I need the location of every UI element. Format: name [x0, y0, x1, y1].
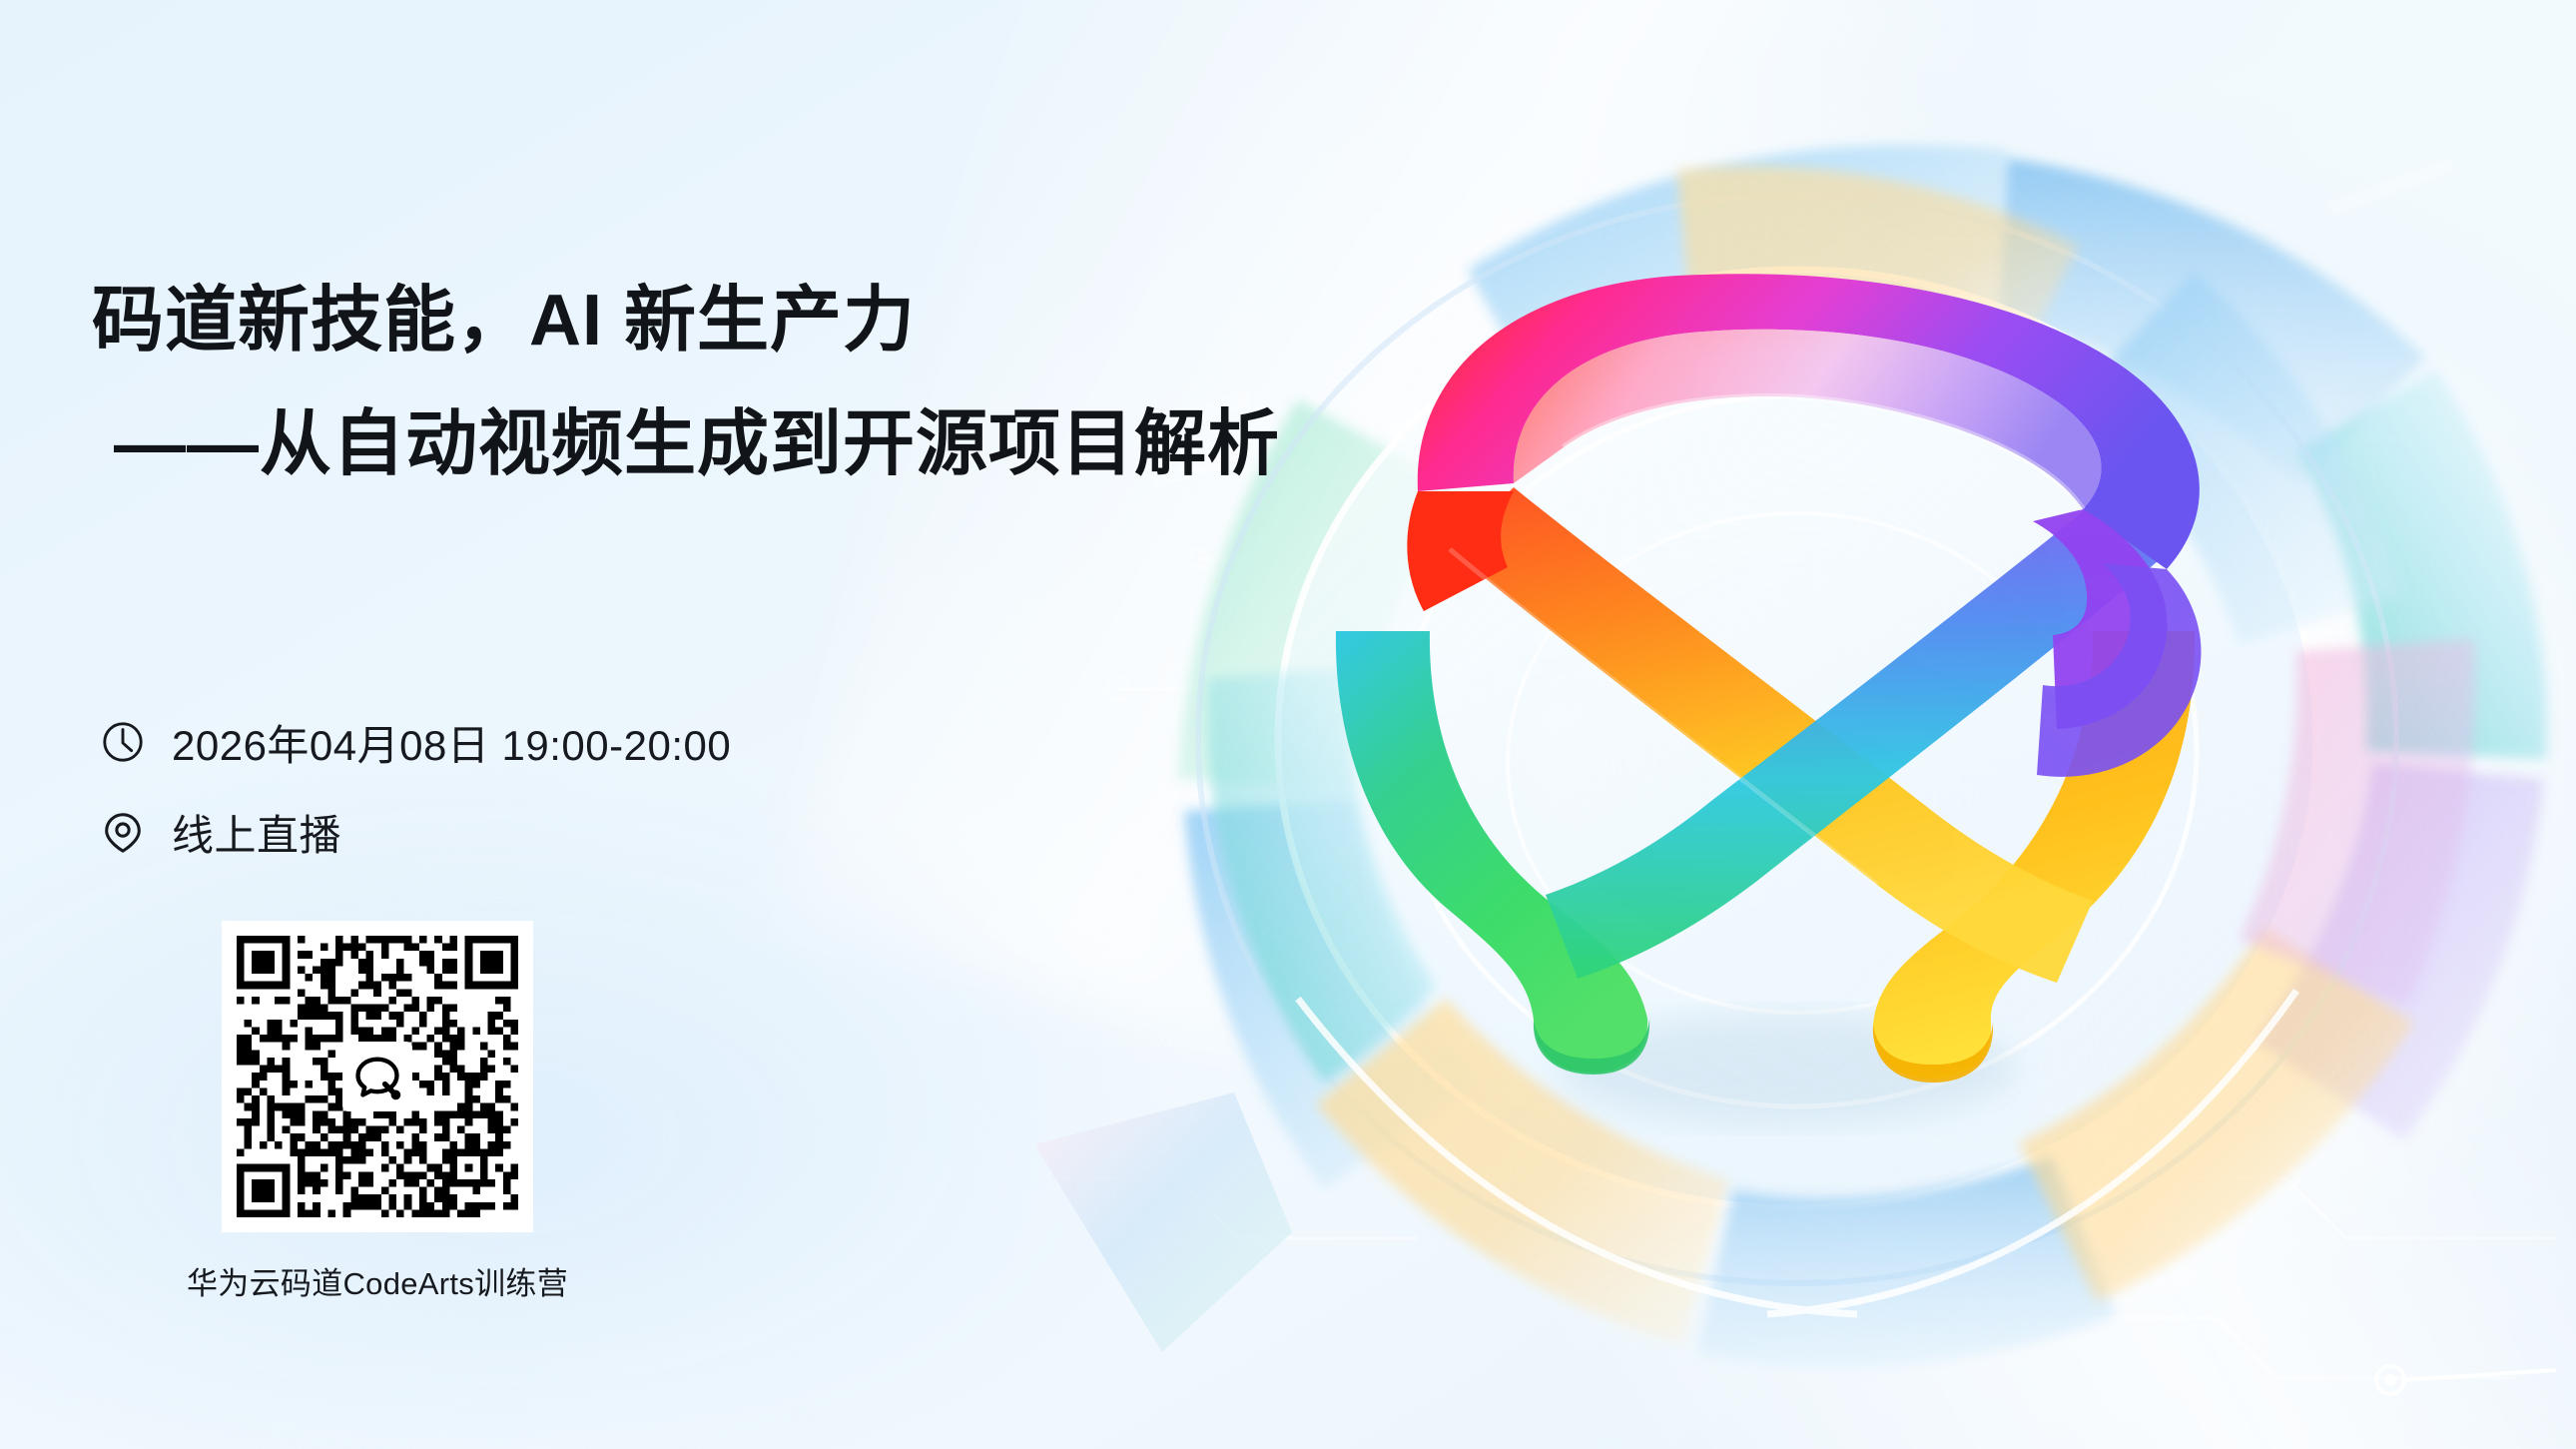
event-datetime-row: 2026年04月08日 19:00-20:00: [100, 711, 731, 773]
qr-block: 华为云码道CodeArts训练营: [222, 921, 599, 1303]
page-title-line-1: 码道新技能，AI 新生产力: [92, 285, 1270, 357]
poster-canvas: 码道新技能，AI 新生产力 ——从自动视频生成到开源项目解析 2026年04月0…: [0, 0, 2576, 1449]
qr-caption: 华为云码道CodeArts训练营: [156, 1258, 599, 1303]
location-pin-icon: [100, 809, 146, 855]
title-block: 码道新技能，AI 新生产力 ——从自动视频生成到开源项目解析: [92, 285, 1270, 480]
qr-center-logo: [342, 1042, 412, 1111]
event-location-row: 线上直播: [100, 801, 731, 863]
qr-code-card[interactable]: [222, 921, 533, 1232]
speech-bubble-icon: [351, 1051, 403, 1102]
event-datetime-text: 2026年04月08日 19:00-20:00: [172, 712, 731, 773]
event-meta: 2026年04月08日 19:00-20:00 线上直播: [100, 711, 731, 891]
poster-content: 码道新技能，AI 新生产力 ——从自动视频生成到开源项目解析 2026年04月0…: [0, 0, 1298, 1449]
event-location-text: 线上直播: [172, 802, 341, 863]
clock-icon: [100, 719, 146, 765]
page-title-line-2: ——从自动视频生成到开源项目解析: [114, 408, 1270, 480]
circuit-node-icon: [2376, 1366, 2556, 1394]
